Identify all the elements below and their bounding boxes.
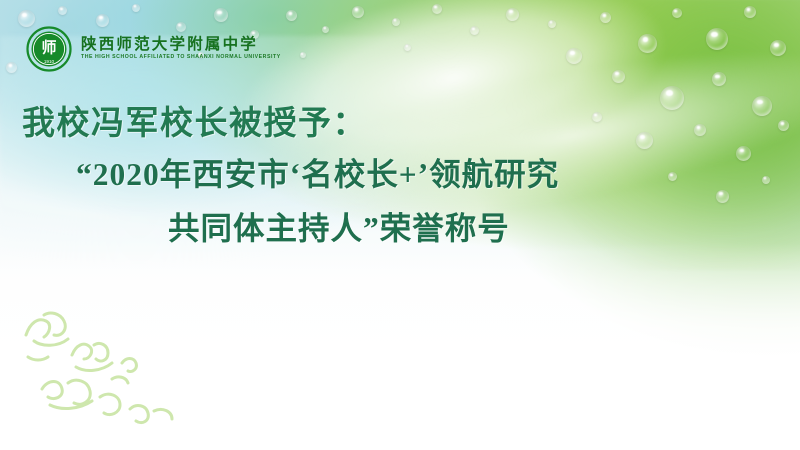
- svg-text:师: 师: [41, 39, 56, 57]
- school-seal-icon: 师 1910: [26, 26, 72, 72]
- svg-text:1910: 1910: [44, 59, 55, 64]
- background-bottom-fade: [0, 243, 800, 450]
- school-logo: 师 1910 陕西师范大学附属中学 THE HIGH SCHOOL AFFILI…: [26, 26, 281, 72]
- title-line-1: 我校冯军校长被授予：: [0, 104, 800, 145]
- title-line-2: “2020年西安市‘名校长+’领航研究: [0, 145, 800, 205]
- school-logo-text: 陕西师范大学附属中学 THE HIGH SCHOOL AFFILIATED TO…: [81, 37, 281, 61]
- school-name-cn: 陕西师范大学附属中学: [81, 37, 281, 53]
- slide-title: 我校冯军校长被授予： “2020年西安市‘名校长+’领航研究 共同体主持人”荣誉…: [0, 104, 800, 254]
- school-name-en: THE HIGH SCHOOL AFFILIATED TO SHAANXI NO…: [81, 55, 281, 60]
- slide-canvas: 师 1910 陕西师范大学附属中学 THE HIGH SCHOOL AFFILI…: [0, 0, 800, 450]
- title-line-3: 共同体主持人”荣誉称号: [0, 205, 800, 254]
